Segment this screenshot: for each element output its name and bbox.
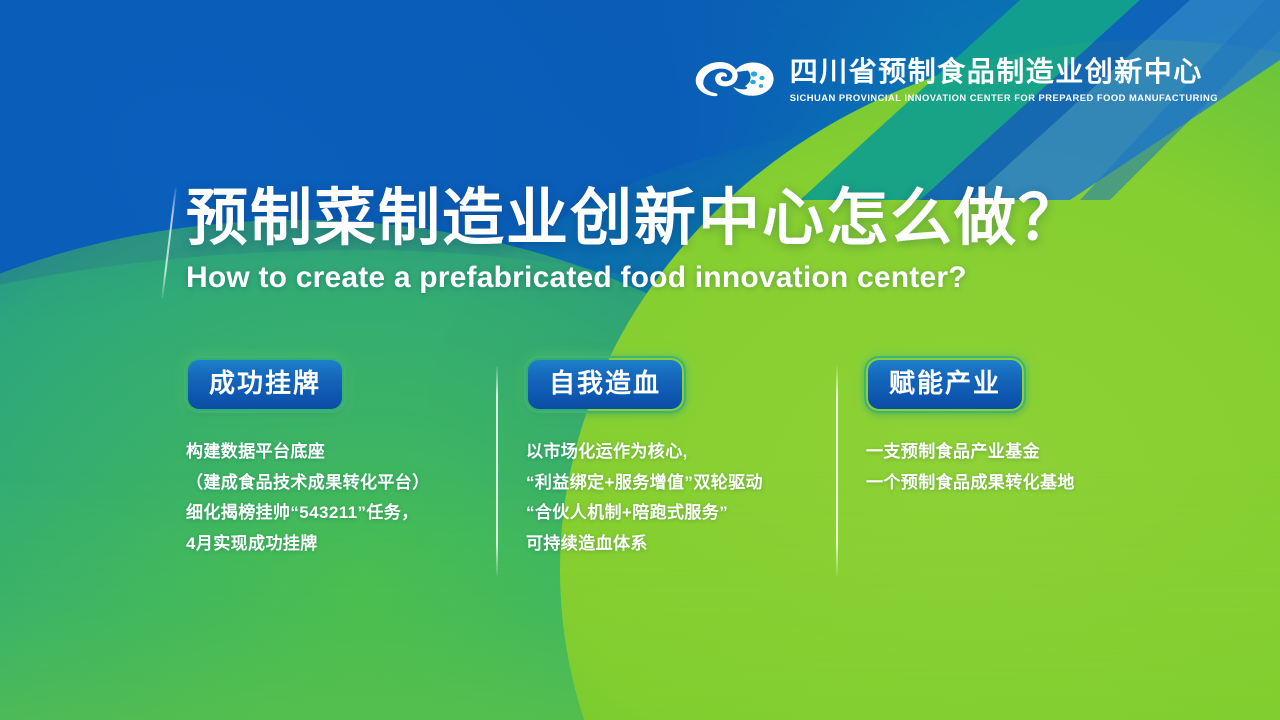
- slide-canvas: 四川省预制食品制造业创新中心 SICHUAN PROVINCIAL INNOVA…: [0, 0, 1280, 720]
- pillar-line: “合伙人机制+陪跑式服务”: [526, 498, 826, 529]
- org-logo-lockup: 四川省预制食品制造业创新中心 SICHUAN PROVINCIAL INNOVA…: [690, 52, 1218, 108]
- pillar-body-1: 构建数据平台底座 （建成食品技术成果转化平台） 细化揭榜挂帅“543211”任务…: [186, 437, 486, 561]
- pillar-line: 可持续造血体系: [526, 529, 826, 560]
- pillar-column-2: 自我造血 以市场化运作为核心, “利益绑定+服务增值”双轮驱动 “合伙人机制+陪…: [526, 358, 826, 560]
- pillar-body-2: 以市场化运作为核心, “利益绑定+服务增值”双轮驱动 “合伙人机制+陪跑式服务”…: [526, 437, 826, 561]
- pillar-column-3: 赋能产业 一支预制食品产业基金 一个预制食品成果转化基地: [866, 358, 1166, 498]
- page-title-en: How to create a prefabricated food innov…: [186, 261, 1082, 295]
- pillars-section: 成功挂牌 构建数据平台底座 （建成食品技术成果转化平台） 细化揭榜挂帅“5432…: [0, 358, 1280, 588]
- pillar-body-3: 一支预制食品产业基金 一个预制食品成果转化基地: [866, 437, 1166, 499]
- pillar-badge-3[interactable]: 赋能产业: [866, 358, 1024, 411]
- pillar-column-1: 成功挂牌 构建数据平台底座 （建成食品技术成果转化平台） 细化揭榜挂帅“5432…: [186, 358, 486, 560]
- pillar-line: 细化揭榜挂帅“543211”任务，: [186, 498, 486, 529]
- title-block: 预制菜制造业创新中心怎么做？ How to create a prefabric…: [186, 182, 1082, 295]
- pillar-line: 以市场化运作为核心,: [526, 437, 826, 468]
- pillar-line: 一个预制食品成果转化基地: [866, 468, 1166, 499]
- pillar-line: “利益绑定+服务增值”双轮驱动: [526, 468, 826, 499]
- pillar-badge-2[interactable]: 自我造血: [526, 358, 684, 411]
- column-divider-1: [496, 366, 498, 576]
- pillar-line: 4月实现成功挂牌: [186, 529, 486, 560]
- pillar-line: 一支预制食品产业基金: [866, 437, 1166, 468]
- pillar-line: 构建数据平台底座: [186, 437, 486, 468]
- pillar-line: （建成食品技术成果转化平台）: [186, 468, 486, 499]
- pillar-badge-1[interactable]: 成功挂牌: [186, 358, 344, 411]
- column-divider-2: [836, 366, 838, 576]
- org-name-en: SICHUAN PROVINCIAL INNOVATION CENTER FOR…: [790, 92, 1218, 103]
- org-name-cn: 四川省预制食品制造业创新中心: [790, 57, 1218, 86]
- bowl-swirl-logo-icon: [690, 52, 776, 108]
- page-title-cn: 预制菜制造业创新中心怎么做？: [186, 182, 1082, 255]
